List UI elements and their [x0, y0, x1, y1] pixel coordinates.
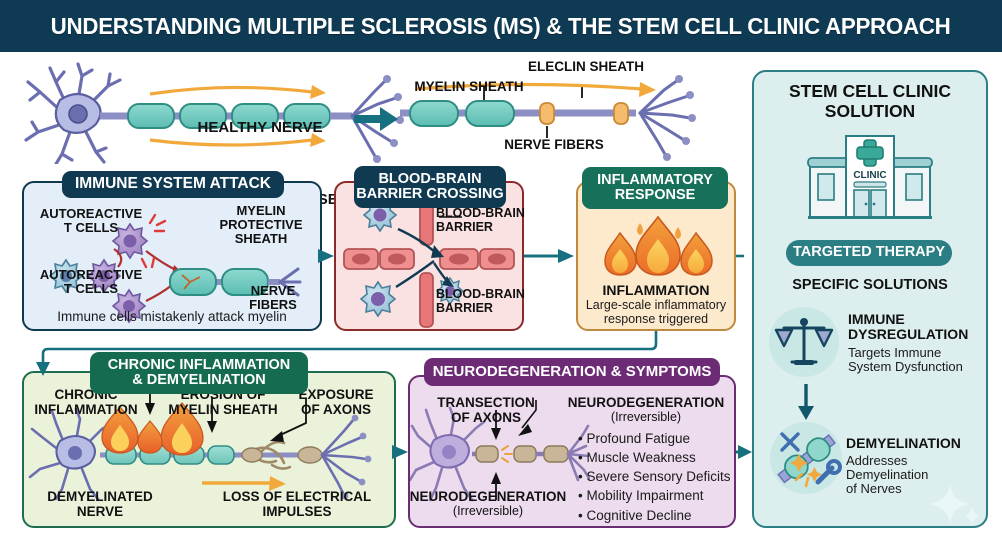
immune-dysregulation-title: IMMUNE DYSREGULATION [848, 312, 998, 342]
bbb-header-line2: BARRIER CROSSING [356, 187, 503, 203]
symptom-item: • Muscle Weakness [578, 448, 738, 467]
myelin-sheath-label: MYELIN SHEATH [394, 80, 544, 95]
immune-header-text: IMMUNE SYSTEM ATTACK [75, 176, 271, 193]
chronic-header-line1: CHRONIC INFLAMMATION [108, 358, 291, 374]
symptom-item: • Profound Fatigue [578, 429, 738, 448]
chronic-inflammation-header: CHRONIC INFLAMMATION & DEMYELINATION [90, 352, 308, 394]
inflammation-title: INFLAMMATION [580, 283, 732, 298]
eleclin-sheath-label: ELECLIN SHEATH [506, 60, 666, 75]
transection-of-axons-label: TRANSECTION OF AXONS [418, 396, 554, 425]
demyelination-repair-icon [768, 420, 844, 496]
inflam-header-line1: INFLAMMATORY [597, 173, 713, 189]
neurodegeneration-right-label: NEURODEGENERATION (Irreversible) [560, 396, 732, 424]
immune-system-attack-header: IMMUNE SYSTEM ATTACK [62, 171, 284, 198]
nerve-fibers-immune-label: NERVE FIBERS [232, 284, 314, 312]
page-title: UNDERSTANDING MULTIPLE SCLEROSIS (MS) & … [51, 13, 951, 40]
inflammation-description: Large-scale inflammatory response trigge… [576, 299, 736, 326]
symptoms-list: • Profound Fatigue • Muscle Weakness • S… [578, 429, 738, 525]
demyelination-title: DEMYELINATION [846, 436, 998, 451]
autoreactive-t-cells-bottom-label: AUTOREACTIVE T CELLS [26, 268, 156, 296]
sparkle-decoration-icon [928, 482, 980, 524]
arrow-bbb-to-inflammatory [524, 249, 574, 263]
infographic-root: UNDERSTANDING MULTIPLE SCLEROSIS (MS) & … [0, 0, 1002, 547]
page-title-bar: UNDERSTANDING MULTIPLE SCLEROSIS (MS) & … [0, 0, 1002, 52]
arrow-neuro-to-clinic [736, 445, 752, 459]
inflam-header-line2: RESPONSE [615, 188, 696, 204]
myelin-protective-sheath-label: MYELIN PROTECTIVE SHEATH [205, 204, 317, 246]
flames-icon [596, 215, 720, 277]
symptom-item: • Mobility Impairment [578, 486, 738, 505]
targeted-therapy-badge: TARGETED THERAPY [786, 240, 952, 266]
immune-dysregulation-desc: Targets Immune System Dysfunction [848, 346, 998, 374]
clinic-down-arrow-icon [796, 384, 816, 420]
neuro-header-text: NEURODEGENERATION & SYMPTOMS [433, 364, 712, 380]
bbb-header-line1: BLOOD-BRAIN [378, 172, 481, 188]
clinic-building-icon: CLINIC [806, 128, 934, 220]
bbb-bottom-label: BLOOD-BRAIN BARRIER [436, 288, 526, 315]
bbb-top-label: BLOOD-BRAIN BARRIER [436, 207, 526, 234]
neurodegeneration-header: NEURODEGENERATION & SYMPTOMS [424, 358, 720, 386]
demyelinated-nerve-label: DEMYELINATED NERVE [30, 490, 170, 519]
myelin-detail-illustration: MYELIN SHEATH ELECLIN SHEATH NERVE FIBER… [396, 58, 748, 166]
immune-dysregulation-icon [768, 306, 840, 378]
healthy-nerve-label: HEALTHY NERVE [160, 120, 360, 136]
neurodegeneration-bottom-label: NEURODEGENERATION (Irreversible) [400, 490, 576, 518]
clinic-sign-text: CLINIC [853, 170, 886, 181]
nerve-fibers-label: NERVE FIBERS [484, 138, 624, 153]
inflammatory-response-header: INFLAMMATORY RESPONSE [582, 167, 728, 209]
symptom-item: • Cognitive Decline [578, 506, 738, 525]
autoreactive-t-cells-top-label: AUTOREACTIVE T CELLS [26, 207, 156, 235]
symptom-item: • Severe Sensory Deficits [578, 467, 738, 486]
immune-caption: Immune cells mistakenly attack myelin [26, 310, 318, 325]
specific-solutions-label: SPECIFIC SOLUTIONS [760, 278, 980, 294]
loss-of-impulses-label: LOSS OF ELECTRICAL IMPULSES [208, 490, 386, 519]
clinic-panel-title: STEM CELL CLINIC SOLUTION [760, 82, 980, 122]
blood-brain-barrier-header: BLOOD-BRAIN BARRIER CROSSING [354, 166, 506, 208]
targeted-therapy-text: TARGETED THERAPY [793, 245, 945, 261]
chronic-header-line2: & DEMYELINATION [132, 373, 265, 389]
